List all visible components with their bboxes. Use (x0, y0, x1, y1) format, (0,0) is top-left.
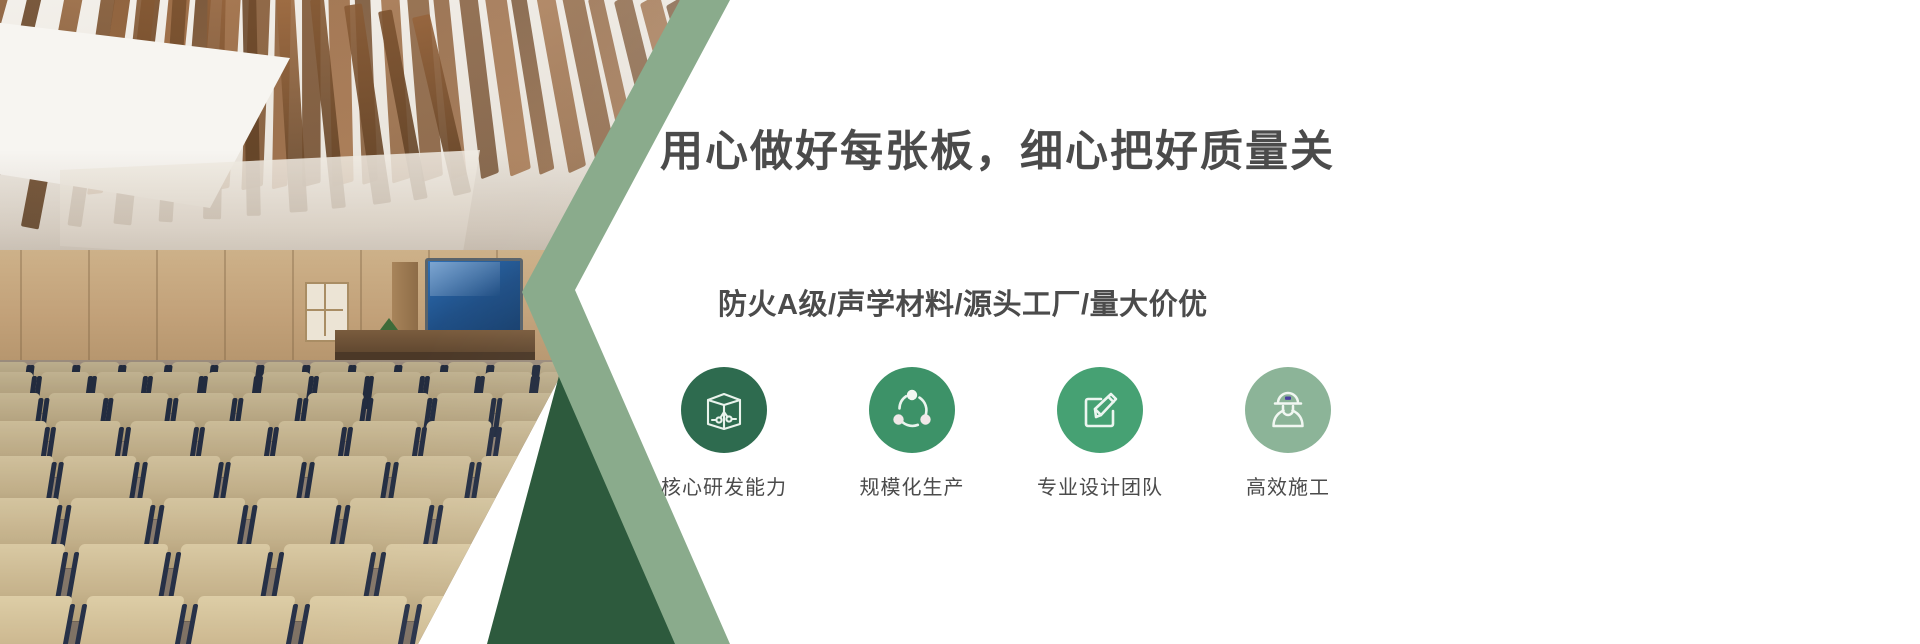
banner-content: 用心做好每张板，细心把好质量关 防火A级/声学材料/源头工厂/量大价优 (660, 0, 1920, 644)
feature-icon-circle (681, 367, 767, 453)
feature-item[interactable]: 专业设计团队 (1036, 367, 1164, 500)
feature-label: 规模化生产 (860, 471, 965, 500)
feature-item[interactable]: 核心研发能力 (660, 367, 788, 500)
feature-list: 核心研发能力 规模化生产 (660, 367, 1352, 500)
feature-label: 专业设计团队 (1037, 471, 1163, 500)
feature-label: 核心研发能力 (661, 471, 787, 500)
feature-icon-circle (869, 367, 955, 453)
worker-helmet-icon (1264, 386, 1312, 434)
pencil-edit-square-icon (1076, 386, 1124, 434)
feature-icon-circle (1057, 367, 1143, 453)
hero-banner: 用心做好每张板，细心把好质量关 防火A级/声学材料/源头工厂/量大价优 (0, 0, 1920, 644)
research-box-chart-icon (700, 386, 748, 434)
network-nodes-icon (888, 386, 936, 434)
feature-label: 高效施工 (1246, 471, 1330, 500)
feature-item[interactable]: 高效施工 (1224, 367, 1352, 500)
feature-icon-circle (1245, 367, 1331, 453)
feature-item[interactable]: 规模化生产 (848, 367, 976, 500)
banner-headline: 用心做好每张板，细心把好质量关 (660, 127, 1335, 179)
banner-subheadline: 防火A级/声学材料/源头工厂/量大价优 (718, 281, 1208, 323)
